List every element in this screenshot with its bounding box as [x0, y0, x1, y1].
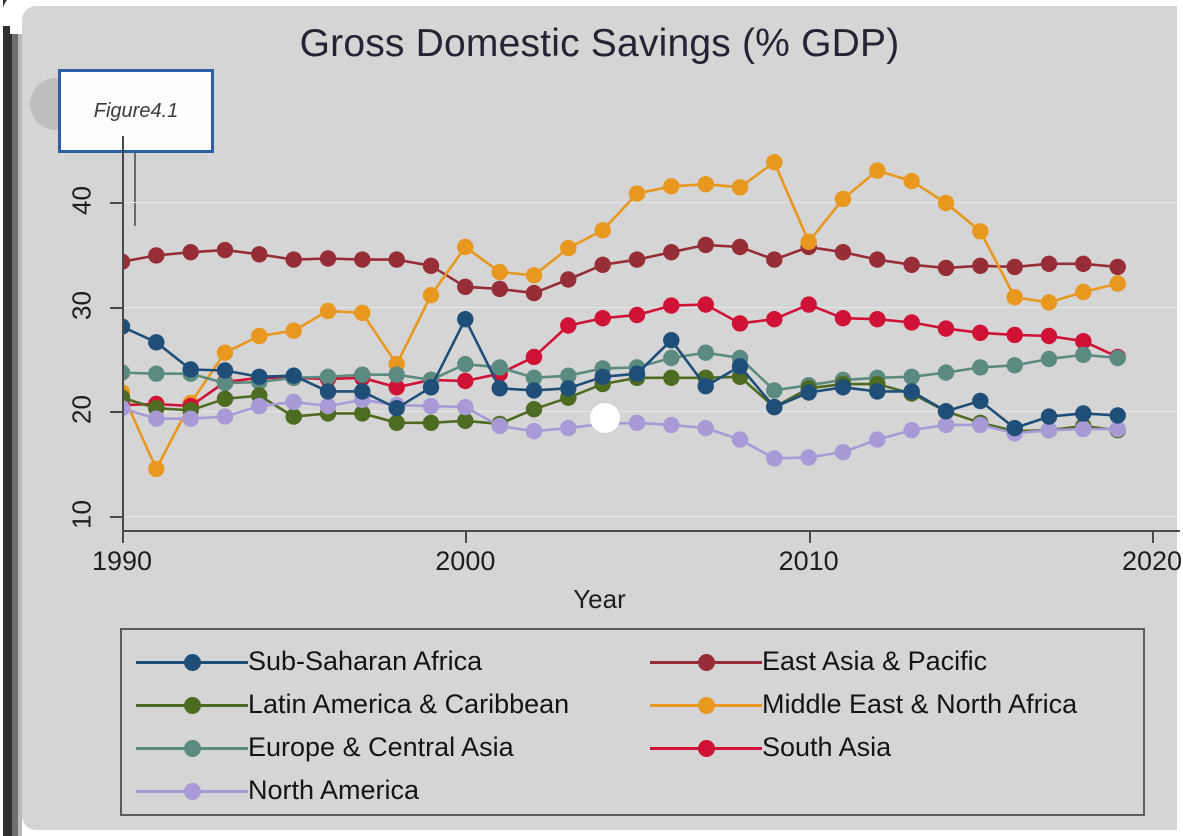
- data-point: [1110, 259, 1126, 275]
- data-point: [148, 366, 164, 382]
- data-point: [698, 345, 714, 361]
- legend-item-south-asia[interactable]: South Asia: [650, 726, 1140, 769]
- data-point: [526, 285, 542, 301]
- data-point: [938, 195, 954, 211]
- data-point: [492, 281, 508, 297]
- data-point: [423, 287, 439, 303]
- data-point: [354, 305, 370, 321]
- data-point: [663, 332, 679, 348]
- data-point: [526, 267, 542, 283]
- data-point: [217, 242, 233, 258]
- data-point: [732, 239, 748, 255]
- data-point: [1110, 275, 1126, 291]
- data-point: [835, 244, 851, 260]
- data-point: [217, 408, 233, 424]
- data-point: [148, 461, 164, 477]
- data-point: [938, 364, 954, 380]
- data-point: [663, 297, 679, 313]
- data-point: [492, 380, 508, 396]
- data-point: [251, 369, 267, 385]
- data-point: [423, 258, 439, 274]
- legend-marker-dot-icon: [698, 654, 715, 671]
- legend-item-north-america[interactable]: North America: [136, 769, 636, 812]
- data-point: [972, 417, 988, 433]
- data-point: [492, 359, 508, 375]
- figure-callout-label: Figure4.1: [94, 100, 179, 123]
- data-point: [732, 431, 748, 447]
- data-point: [286, 394, 302, 410]
- legend-item-east-asia-pacific[interactable]: East Asia & Pacific: [650, 640, 1140, 683]
- data-point: [320, 303, 336, 319]
- data-point: [766, 399, 782, 415]
- series-east-asia-pacific: [122, 237, 1126, 302]
- data-point: [869, 383, 885, 399]
- data-point: [1075, 347, 1091, 363]
- x-axis-line: [122, 530, 1180, 532]
- data-point: [595, 369, 611, 385]
- data-point: [320, 383, 336, 399]
- legend-column-left: Sub-Saharan AfricaLatin America & Caribb…: [136, 640, 636, 812]
- data-point: [1041, 256, 1057, 272]
- data-point: [904, 257, 920, 273]
- data-point: [286, 251, 302, 267]
- data-point: [320, 369, 336, 385]
- y-tick-40: [110, 202, 122, 204]
- data-point: [766, 154, 782, 170]
- data-point: [732, 315, 748, 331]
- data-point: [904, 314, 920, 330]
- legend-item-sub-saharan-africa[interactable]: Sub-Saharan Africa: [136, 640, 636, 683]
- data-point: [560, 380, 576, 396]
- legend-label: North America: [248, 775, 419, 806]
- legend-column-right: East Asia & PacificMiddle East & North A…: [650, 640, 1140, 769]
- y-tick-label-30: 30: [67, 283, 98, 327]
- data-point: [526, 401, 542, 417]
- data-point: [835, 191, 851, 207]
- data-point: [629, 185, 645, 201]
- data-point: [629, 307, 645, 323]
- data-point: [1075, 284, 1091, 300]
- data-point: [904, 173, 920, 189]
- data-point: [526, 382, 542, 398]
- legend-label: Europe & Central Asia: [248, 732, 514, 763]
- legend-swatch-icon: [136, 738, 248, 758]
- plot-area: [122, 136, 1177, 534]
- data-point: [595, 257, 611, 273]
- data-point: [835, 379, 851, 395]
- data-point: [766, 382, 782, 398]
- data-point: [1110, 407, 1126, 423]
- data-point: [1041, 328, 1057, 344]
- y-tick-label-20: 20: [67, 388, 98, 432]
- data-point: [457, 239, 473, 255]
- data-point: [972, 223, 988, 239]
- data-point: [217, 345, 233, 361]
- data-point: [354, 383, 370, 399]
- data-point: [1007, 289, 1023, 305]
- y-tick-20: [110, 411, 122, 413]
- y-axis-line: [122, 136, 124, 532]
- data-point: [801, 384, 817, 400]
- data-point: [835, 444, 851, 460]
- x-tick-2020: [1152, 532, 1154, 543]
- data-point: [526, 423, 542, 439]
- series-europe-central-asia: [122, 345, 1126, 399]
- x-tick-label-2020: 2020: [1092, 546, 1183, 577]
- data-point: [732, 358, 748, 374]
- data-point: [457, 356, 473, 372]
- data-point: [595, 310, 611, 326]
- legend-marker-dot-icon: [698, 697, 715, 714]
- legend-swatch-icon: [650, 738, 762, 758]
- data-point: [663, 370, 679, 386]
- data-point: [389, 251, 405, 267]
- data-point: [663, 417, 679, 433]
- data-point: [1007, 327, 1023, 343]
- legend-marker-dot-icon: [184, 740, 201, 757]
- legend-label: Latin America & Caribbean: [248, 689, 569, 720]
- data-point: [629, 415, 645, 431]
- data-point: [560, 271, 576, 287]
- y-tick-label-40: 40: [67, 179, 98, 223]
- data-point: [560, 420, 576, 436]
- chart-legend: Sub-Saharan AfricaLatin America & Caribb…: [120, 628, 1145, 816]
- data-point: [286, 368, 302, 384]
- data-point: [869, 311, 885, 327]
- data-point: [148, 334, 164, 350]
- data-point: [663, 350, 679, 366]
- data-point: [801, 449, 817, 465]
- data-point: [766, 311, 782, 327]
- data-point: [457, 279, 473, 295]
- data-point: [835, 310, 851, 326]
- data-point: [492, 418, 508, 434]
- data-point: [1075, 421, 1091, 437]
- legend-label: Middle East & North Africa: [762, 689, 1077, 720]
- legend-swatch-icon: [136, 652, 248, 672]
- data-point: [904, 422, 920, 438]
- legend-swatch-icon: [650, 695, 762, 715]
- data-point: [320, 250, 336, 266]
- data-point: [526, 349, 542, 365]
- mouse-cursor-dot: [590, 403, 620, 433]
- legend-marker-dot-icon: [184, 697, 201, 714]
- data-point: [972, 393, 988, 409]
- data-point: [423, 379, 439, 395]
- legend-swatch-icon: [136, 781, 248, 801]
- data-point: [698, 237, 714, 253]
- chart-title: Gross Domestic Savings (% GDP): [22, 22, 1177, 66]
- data-point: [217, 391, 233, 407]
- data-point: [904, 383, 920, 399]
- legend-item-middle-east-north-africa[interactable]: Middle East & North Africa: [650, 683, 1140, 726]
- data-point: [457, 373, 473, 389]
- data-point: [1041, 351, 1057, 367]
- data-point: [320, 398, 336, 414]
- legend-item-europe-central-asia[interactable]: Europe & Central Asia: [136, 726, 636, 769]
- data-point: [869, 162, 885, 178]
- data-point: [938, 320, 954, 336]
- legend-marker-dot-icon: [698, 740, 715, 757]
- y-tick-30: [110, 307, 122, 309]
- data-point: [938, 260, 954, 276]
- data-point: [354, 251, 370, 267]
- data-point: [423, 415, 439, 431]
- data-point: [698, 420, 714, 436]
- data-point: [183, 411, 199, 427]
- data-point: [560, 317, 576, 333]
- data-point: [457, 399, 473, 415]
- y-tick-label-10: 10: [67, 493, 98, 537]
- x-tick-label-2000: 2000: [405, 546, 525, 577]
- data-point: [492, 264, 508, 280]
- data-point: [732, 179, 748, 195]
- legend-label: South Asia: [762, 732, 891, 763]
- x-tick-1990: [122, 532, 124, 543]
- data-point: [148, 411, 164, 427]
- legend-item-latin-america-caribbean[interactable]: Latin America & Caribbean: [136, 683, 636, 726]
- y-tick-10: [110, 516, 122, 518]
- legend-swatch-icon: [650, 652, 762, 672]
- data-point: [801, 234, 817, 250]
- data-point: [286, 323, 302, 339]
- data-point: [1110, 350, 1126, 366]
- data-point: [1041, 294, 1057, 310]
- data-point: [1007, 259, 1023, 275]
- data-point: [663, 244, 679, 260]
- legend-marker-dot-icon: [184, 654, 201, 671]
- data-point: [1041, 408, 1057, 424]
- data-point: [148, 247, 164, 263]
- data-point: [1007, 357, 1023, 373]
- slide-panel: Gross Domestic Savings (% GDP) Figure4.1…: [22, 6, 1177, 830]
- legend-label: East Asia & Pacific: [762, 646, 987, 677]
- x-tick-2010: [809, 532, 811, 543]
- data-point: [183, 244, 199, 260]
- data-point: [595, 222, 611, 238]
- data-point: [389, 367, 405, 383]
- data-point: [286, 408, 302, 424]
- data-point: [629, 251, 645, 267]
- legend-label: Sub-Saharan Africa: [248, 646, 482, 677]
- screenshot-root: Gross Domestic Savings (% GDP) Figure4.1…: [0, 0, 1183, 836]
- data-point: [698, 176, 714, 192]
- window-left-edge: [0, 0, 22, 836]
- data-point: [251, 398, 267, 414]
- data-point: [869, 431, 885, 447]
- data-point: [457, 311, 473, 327]
- data-point: [1075, 405, 1091, 421]
- data-point: [801, 296, 817, 312]
- data-point: [217, 362, 233, 378]
- data-point: [389, 415, 405, 431]
- data-point: [766, 450, 782, 466]
- x-tick-label-2010: 2010: [749, 546, 869, 577]
- data-point: [354, 367, 370, 383]
- data-point: [972, 359, 988, 375]
- data-point: [766, 251, 782, 267]
- data-point: [904, 369, 920, 385]
- data-point: [972, 258, 988, 274]
- x-axis-title: Year: [22, 584, 1177, 615]
- data-point: [183, 361, 199, 377]
- data-point: [663, 178, 679, 194]
- data-point: [389, 400, 405, 416]
- data-point: [251, 246, 267, 262]
- x-tick-2000: [465, 532, 467, 543]
- data-point: [1075, 256, 1091, 272]
- series-lines: [122, 136, 1177, 534]
- data-point: [869, 251, 885, 267]
- data-point: [972, 325, 988, 341]
- x-tick-label-1990: 1990: [62, 546, 182, 577]
- legend-swatch-icon: [136, 695, 248, 715]
- data-point: [938, 403, 954, 419]
- data-point: [698, 378, 714, 394]
- data-point: [1007, 420, 1023, 436]
- data-point: [698, 296, 714, 312]
- data-point: [251, 328, 267, 344]
- data-point: [423, 398, 439, 414]
- legend-marker-dot-icon: [184, 783, 201, 800]
- data-point: [560, 240, 576, 256]
- data-point: [629, 366, 645, 382]
